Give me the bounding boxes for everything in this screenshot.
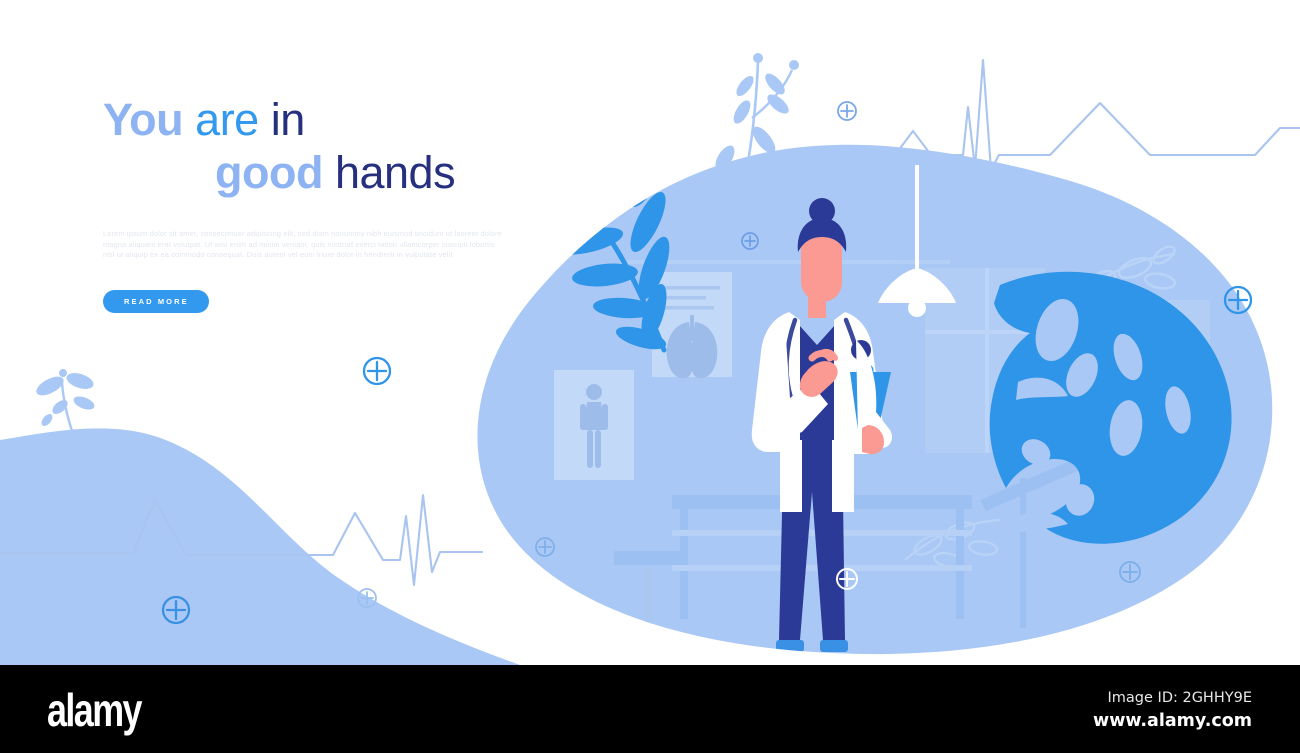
read-more-button[interactable]: READ MORE [103, 290, 209, 314]
left-background-blob [0, 428, 520, 665]
headline-word-hands: hands [335, 147, 455, 198]
plus-icon [837, 569, 857, 589]
plus-icon [838, 102, 856, 120]
alamy-logo: alamy [47, 683, 141, 737]
plus-icon [742, 233, 758, 249]
alamy-url: www.alamy.com [1093, 711, 1252, 731]
hero-copy-block: You are in good hands Lorem ipsum dolor … [103, 97, 523, 313]
plus-icon [536, 538, 554, 556]
xray-poster-body [554, 370, 634, 480]
headline-word-are: are [195, 94, 259, 145]
hero-paragraph: Lorem ipsum dolor sit amet, consectetuer… [103, 229, 508, 261]
headline-line-2: good hands [103, 150, 523, 195]
plus-icon [364, 358, 390, 384]
headline-word-you: You [103, 94, 183, 145]
hero-page: You are in good hands Lorem ipsum dolor … [0, 0, 1300, 753]
headline-word-in: in [271, 94, 305, 145]
plus-icon [1120, 562, 1140, 582]
plus-icon [163, 597, 189, 623]
page-title: You are in good hands [103, 97, 523, 195]
plus-icon [358, 589, 376, 607]
plus-icon [1225, 287, 1251, 313]
headline-line-1: You are in [103, 97, 523, 142]
headline-word-good: good [215, 147, 323, 198]
image-id-label: Image ID: 2GHHY9E [1108, 690, 1252, 706]
stock-watermark-bar: alamy Image ID: 2GHHY9E www.alamy.com [0, 665, 1300, 753]
